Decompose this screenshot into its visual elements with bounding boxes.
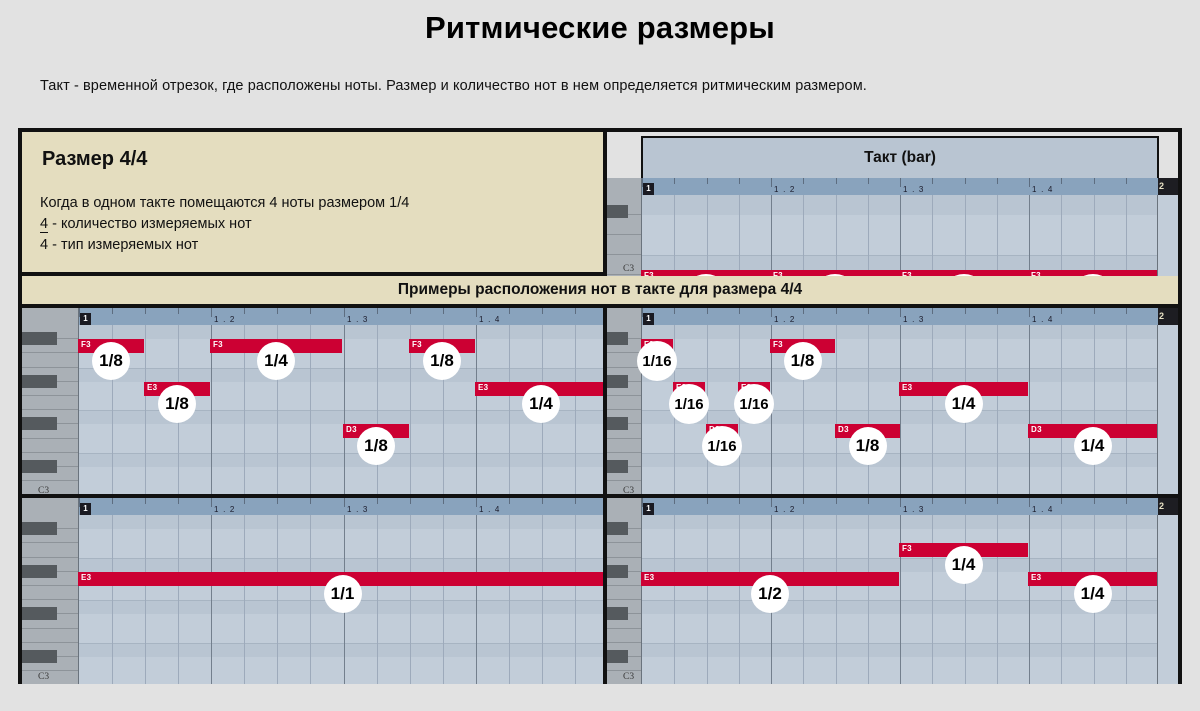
ruler-tick [344, 308, 345, 317]
ruler-beat-label: 1 . 2 [774, 505, 796, 514]
grid-vline [509, 515, 510, 684]
white-key[interactable] [607, 543, 641, 557]
ruler-tick [1029, 178, 1030, 187]
note-duration-label: 1/16 [707, 438, 736, 455]
white-key[interactable] [607, 586, 641, 600]
ruler-tick [1126, 178, 1127, 184]
note-duration-label: 1/1 [331, 584, 355, 604]
takt-caption-label: Такт (bar) [864, 149, 936, 167]
note-pitch-label: F3 [412, 340, 422, 349]
grid-vline [310, 515, 311, 684]
grid-vline [803, 195, 804, 276]
black-key[interactable] [607, 650, 628, 663]
grid-vline [707, 195, 708, 276]
note-duration-badge: 1/4 [257, 342, 295, 380]
ruler-end-marker: 2 [1157, 498, 1178, 515]
white-key[interactable] [607, 396, 641, 410]
grid-row-shade [79, 543, 607, 557]
ruler-tick [674, 498, 675, 504]
bar-ruler[interactable]: 11 . 21 . 31 . 4 [642, 498, 1158, 515]
ruler-start-marker: 1 [643, 503, 654, 515]
black-key[interactable] [607, 522, 628, 535]
ruler-tick [178, 498, 179, 504]
ruler-tick [932, 308, 933, 314]
black-key[interactable] [607, 205, 628, 218]
ruler-tick [277, 308, 278, 314]
ruler-tick [344, 498, 345, 507]
ruler-tick [932, 178, 933, 184]
ruler-beat-label: 1 . 2 [214, 315, 236, 324]
white-key[interactable] [607, 439, 641, 453]
example-eighths-panel: C311 . 21 . 31 . 4F31/8E31/8F31/4D31/8F3… [22, 308, 607, 498]
note-pitch-label: F3 [773, 340, 783, 349]
bar-ruler[interactable]: 11 . 21 . 31 . 4 [642, 308, 1158, 325]
ruler-tick [310, 498, 311, 504]
note-duration-label: 1/16 [739, 396, 768, 413]
grid-vline [145, 515, 146, 684]
note-duration-label: 1/16 [642, 353, 671, 370]
grid-vline [1061, 515, 1062, 684]
note-pitch-label: F3 [1031, 271, 1041, 276]
grid-vline [836, 325, 837, 498]
white-key[interactable] [22, 629, 78, 643]
piano-keyboard[interactable]: C3 [607, 308, 641, 498]
grid-vline [344, 325, 345, 498]
end-gutter [1157, 325, 1178, 498]
info-line-2-text: - количество измеряемых нот [48, 216, 252, 232]
grid-vline [674, 515, 675, 684]
note-duration-badge: 1/4 [522, 385, 560, 423]
grid-vline [277, 515, 278, 684]
note-duration-label: 1/8 [856, 436, 880, 456]
grid-vline [575, 515, 576, 684]
ruler-tick [1029, 308, 1030, 317]
ruler-tick [771, 308, 772, 317]
note-duration-badge: 1/8 [423, 342, 461, 380]
ruler-tick [1126, 308, 1127, 314]
note-pitch-label: D3 [1031, 425, 1042, 434]
note-duration-label: 1/4 [264, 351, 288, 371]
ruler-beat-label: 1 . 3 [903, 505, 925, 514]
grid-vline [1094, 325, 1095, 498]
note-pitch-label: E3 [478, 383, 488, 392]
ruler-beat-label: 1 . 4 [479, 505, 501, 514]
note-duration-badge: 1/16 [702, 426, 742, 466]
note-duration-label: 1/4 [952, 394, 976, 414]
ruler-end-marker: 2 [1157, 308, 1178, 325]
piano-keyboard[interactable]: C3 [22, 308, 78, 498]
grid-row-shade [79, 529, 607, 543]
white-key[interactable] [607, 215, 641, 235]
note-duration-label: 1/4 [1081, 436, 1105, 456]
grid-vline [997, 325, 998, 498]
ruler-beat-label: 1 . 3 [903, 315, 925, 324]
note-duration-label: 1/4 [1081, 584, 1105, 604]
note-duration-badge: 1/2 [751, 575, 789, 613]
ruler-tick [900, 178, 901, 187]
ruler-tick [674, 308, 675, 314]
grid-vline [1094, 195, 1095, 276]
grid-vline [1029, 515, 1030, 684]
ruler-tick [707, 178, 708, 184]
note-duration-badge: 1/4 [945, 546, 983, 584]
info-line-1: Когда в одном такте помещаются 4 ноты ра… [40, 193, 585, 214]
note-pitch-label: D3 [838, 425, 849, 434]
grid-vline [410, 515, 411, 684]
grid-vline [868, 195, 869, 276]
grid-vline [542, 515, 543, 684]
grid-vline [836, 515, 837, 684]
ruler-tick [178, 308, 179, 314]
note-duration-label: 1/8 [791, 351, 815, 371]
grid-row-shade [79, 467, 607, 481]
grid-vline [1061, 195, 1062, 276]
note-duration-label: 1/8 [99, 351, 123, 371]
ruler-tick [997, 178, 998, 184]
info-line-2: 4 - количество измеряемых нот [40, 214, 585, 235]
grid-vline [145, 325, 146, 498]
ruler-tick [707, 498, 708, 504]
note-duration-label: 1/4 [952, 555, 976, 575]
ruler-tick [771, 498, 772, 507]
black-key[interactable] [22, 417, 57, 430]
ruler-tick [244, 308, 245, 314]
ruler-tick [868, 308, 869, 314]
note-pitch-label: F3 [81, 340, 91, 349]
piano-keyboard[interactable]: C3 [607, 498, 641, 684]
grid-vline [1126, 515, 1127, 684]
ruler-tick [1029, 498, 1030, 507]
black-key[interactable] [22, 332, 57, 345]
white-key[interactable] [607, 235, 641, 255]
grid-vline [1126, 195, 1127, 276]
ruler-tick [803, 308, 804, 314]
ruler-tick [739, 308, 740, 314]
ruler-tick [476, 498, 477, 507]
grid-vline [476, 515, 477, 684]
ruler-beat-label: 1 . 3 [903, 185, 925, 194]
ruler-tick [377, 308, 378, 314]
black-key[interactable] [22, 565, 57, 578]
ruler-start-marker: 1 [643, 313, 654, 325]
ruler-beat-label: 1 . 2 [214, 505, 236, 514]
grid-vline [509, 325, 510, 498]
keyboard-low-label: C3 [623, 672, 634, 682]
ruler-beat-label: 1 . 4 [479, 315, 501, 324]
grid-vline [965, 515, 966, 684]
grid-hline [79, 368, 607, 369]
ruler-tick [965, 308, 966, 314]
ruler-tick [1094, 308, 1095, 314]
ruler-tick [1094, 178, 1095, 184]
grid-hline [79, 453, 607, 454]
note-pitch-label: E3 [902, 383, 912, 392]
ruler-tick [932, 498, 933, 504]
ruler-beat-label: 1 . 3 [347, 315, 369, 324]
piano-keyboard[interactable]: C3 [22, 498, 78, 684]
takt-caption-box: Такт (bar) [641, 136, 1159, 178]
ruler-tick [900, 308, 901, 317]
note-duration-badge: 1/4 [1074, 575, 1112, 613]
ruler-tick [542, 308, 543, 314]
examples-banner: Примеры расположения нот в такте для раз… [22, 276, 1178, 308]
white-key[interactable] [22, 481, 78, 495]
grid-vline [868, 325, 869, 498]
note-duration-badge: 1/8 [784, 342, 822, 380]
grid-vline [771, 195, 772, 276]
ruler-tick [965, 178, 966, 184]
info-line-2-number: 4 [40, 216, 48, 233]
white-key[interactable] [22, 543, 78, 557]
diagram-frame: Размер 4/4 Когда в одном такте помещаютс… [18, 128, 1182, 684]
black-key[interactable] [22, 375, 57, 388]
ruler-tick [443, 498, 444, 504]
grid-row-shade [79, 481, 607, 495]
grid-row-shade [79, 353, 607, 367]
ruler-start-marker: 1 [643, 183, 654, 195]
info-line-3-number: 4 [40, 237, 48, 253]
grid-row-shade [79, 439, 607, 453]
black-key[interactable] [607, 417, 628, 430]
end-gutter [1157, 515, 1178, 684]
grid-vline [868, 515, 869, 684]
black-key[interactable] [607, 460, 628, 473]
info-heading: Размер 4/4 [42, 148, 585, 171]
grid-hline [79, 643, 607, 644]
note-pitch-label: F3 [213, 340, 223, 349]
black-key[interactable] [22, 522, 57, 535]
note-duration-label: 1/4 [529, 394, 553, 414]
grid-vline [932, 515, 933, 684]
grid-vline [803, 515, 804, 684]
grid-vline [112, 515, 113, 684]
grid-vline [900, 195, 901, 276]
note-duration-badge: 1/8 [849, 427, 887, 465]
grid-vline [997, 515, 998, 684]
note-duration-label: 1/2 [758, 584, 782, 604]
ruler-tick [410, 308, 411, 314]
grid-row-shade [79, 671, 607, 684]
ruler-beat-label: 1 . 4 [1032, 505, 1054, 514]
note-duration-badge: 1/8 [92, 342, 130, 380]
grid-vline [1061, 325, 1062, 498]
grid-vline [244, 515, 245, 684]
keyboard-low-label: C3 [38, 486, 49, 496]
example-half-quarter-panel: C311 . 21 . 31 . 42E31/2F31/4E31/4 [607, 498, 1178, 684]
ruler-tick [868, 178, 869, 184]
note-pitch-label: E3 [81, 573, 91, 582]
note-pitch-label: F3 [902, 271, 912, 276]
ruler-tick [836, 308, 837, 314]
grid-vline [836, 195, 837, 276]
white-key[interactable] [22, 396, 78, 410]
ruler-tick [112, 308, 113, 314]
ruler-tick [244, 498, 245, 504]
ruler-tick [1126, 498, 1127, 504]
keyboard-low-label: C3 [623, 264, 634, 274]
note-pitch-label: F3 [902, 544, 912, 553]
ruler-tick [277, 498, 278, 504]
grid-vline [932, 325, 933, 498]
note-duration-badge: 1/4 [945, 385, 983, 423]
examples-banner-label: Примеры расположения нот в такте для раз… [398, 281, 802, 299]
bar-ruler[interactable]: 11 . 21 . 31 . 4 [79, 308, 607, 325]
keyboard-low-label: C3 [623, 486, 634, 496]
note-duration-badge: 1/16 [669, 384, 709, 424]
bar-ruler[interactable]: 11 . 21 . 31 . 4 [79, 498, 607, 515]
note-duration-badge: 1/16 [734, 384, 774, 424]
ruler-tick [377, 498, 378, 504]
takt-bar-panel: Такт (bar)C311 . 21 . 31 . 42F31/4F31/4F… [607, 132, 1178, 276]
note-grid[interactable]: 11 . 21 . 31 . 4 [641, 178, 1158, 276]
note-duration-label: 1/8 [165, 394, 189, 414]
ruler-tick [476, 308, 477, 317]
black-key[interactable] [607, 375, 628, 388]
ruler-tick [739, 498, 740, 504]
ruler-start-marker: 1 [80, 313, 91, 325]
note-duration-badge: 1/8 [158, 385, 196, 423]
grid-vline [476, 325, 477, 498]
ruler-tick [575, 308, 576, 314]
grid-vline [443, 515, 444, 684]
note-pitch-label: D3 [346, 425, 357, 434]
ruler-beat-label: 1 . 2 [774, 315, 796, 324]
grid-vline [900, 325, 901, 498]
note-duration-badge: 1/16 [637, 341, 677, 381]
ruler-tick [211, 308, 212, 317]
ruler-tick [443, 308, 444, 314]
grid-row-shade [79, 339, 607, 353]
ruler-tick [868, 498, 869, 504]
ruler-tick [900, 498, 901, 507]
grid-vline [1029, 325, 1030, 498]
grid-hline [79, 558, 607, 559]
white-key[interactable] [22, 439, 78, 453]
info-line-3-text: - тип измеряемых нот [48, 237, 198, 253]
grid-vline [377, 515, 378, 684]
ruler-tick [707, 308, 708, 314]
note-pitch-label: F3 [644, 271, 654, 276]
note-duration-badge: 1/4 [1074, 427, 1112, 465]
black-key[interactable] [607, 607, 628, 620]
ruler-tick [1061, 178, 1062, 184]
ruler-tick [997, 308, 998, 314]
ruler-end-marker: 2 [1157, 178, 1178, 195]
ruler-beat-label: 1 . 4 [1032, 185, 1054, 194]
grid-vline [178, 515, 179, 684]
ruler-tick [803, 178, 804, 184]
black-key[interactable] [22, 460, 57, 473]
ruler-tick [771, 178, 772, 187]
note-duration-badge: 1/1 [324, 575, 362, 613]
ruler-tick [674, 178, 675, 184]
grid-vline [965, 195, 966, 276]
note-grid[interactable]: 11 . 21 . 31 . 4 [641, 308, 1158, 498]
ruler-tick [410, 498, 411, 504]
info-line-3: 4 - тип измеряемых нот [40, 235, 585, 256]
grid-vline [900, 515, 901, 684]
ruler-tick [145, 498, 146, 504]
grid-vline [211, 515, 212, 684]
black-key[interactable] [607, 565, 628, 578]
ruler-tick [509, 498, 510, 504]
page-subtitle: Такт - временной отрезок, где расположен… [40, 78, 1170, 94]
ruler-tick [997, 498, 998, 504]
example-sixteenths-panel: C311 . 21 . 31 . 42F31/16E31/16D31/16E31… [607, 308, 1178, 498]
grid-vline [739, 195, 740, 276]
note-duration-label: 1/8 [364, 436, 388, 456]
note-duration-badge: 1/8 [357, 427, 395, 465]
ruler-tick [542, 498, 543, 504]
page-title: Ритмические размеры [0, 10, 1200, 46]
white-key[interactable] [22, 353, 78, 367]
white-key[interactable] [607, 629, 641, 643]
black-key[interactable] [22, 650, 57, 663]
keyboard-low-label: C3 [38, 672, 49, 682]
grid-vline [575, 325, 576, 498]
grid-vline [377, 325, 378, 498]
grid-vline [707, 515, 708, 684]
ruler-beat-label: 1 . 2 [774, 185, 796, 194]
note-pitch-label: F3 [773, 271, 783, 276]
grid-vline [674, 195, 675, 276]
ruler-tick [575, 498, 576, 504]
ruler-tick [836, 498, 837, 504]
note-duration-label: 1/8 [430, 351, 454, 371]
bar-ruler[interactable]: 11 . 21 . 31 . 4 [642, 178, 1158, 195]
ruler-beat-label: 1 . 3 [347, 505, 369, 514]
ruler-tick [739, 178, 740, 184]
note-pitch-label: E3 [644, 573, 654, 582]
grid-vline [739, 515, 740, 684]
grid-hline [79, 495, 607, 496]
grid-row-shade [79, 657, 607, 671]
grid-vline [997, 195, 998, 276]
white-key[interactable] [607, 353, 641, 367]
ruler-tick [145, 308, 146, 314]
note-duration-label: 1/16 [674, 396, 703, 413]
black-key[interactable] [22, 607, 57, 620]
ruler-tick [509, 308, 510, 314]
ruler-beat-label: 1 . 4 [1032, 315, 1054, 324]
ruler-tick [1094, 498, 1095, 504]
grid-vline [932, 195, 933, 276]
grid-row-shade [79, 614, 607, 628]
ruler-tick [112, 498, 113, 504]
piano-keyboard[interactable]: C3 [607, 178, 641, 276]
grid-hline [642, 495, 1158, 496]
ruler-tick [803, 498, 804, 504]
ruler-tick [965, 498, 966, 504]
white-key[interactable] [22, 586, 78, 600]
example-whole-note-panel: C311 . 21 . 31 . 4E31/1 [22, 498, 607, 684]
ruler-tick [1061, 308, 1062, 314]
ruler-start-marker: 1 [80, 503, 91, 515]
black-key[interactable] [607, 332, 628, 345]
note-pitch-label: E3 [147, 383, 157, 392]
grid-vline [1029, 195, 1030, 276]
ruler-tick [836, 178, 837, 184]
note-pitch-label: E3 [1031, 573, 1041, 582]
end-gutter [1157, 195, 1178, 276]
info-box: Размер 4/4 Когда в одном такте помещаютс… [22, 132, 607, 276]
ruler-tick [1061, 498, 1062, 504]
ruler-tick [211, 498, 212, 507]
grid-vline [1126, 325, 1127, 498]
ruler-tick [310, 308, 311, 314]
grid-row-shade [79, 629, 607, 643]
